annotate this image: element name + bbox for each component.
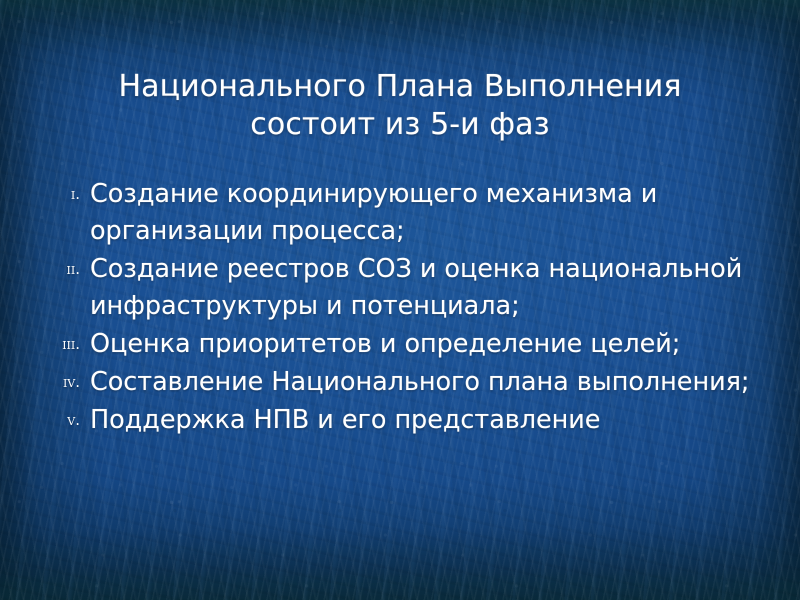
list-item-label: Создание координирующего механизма и орг… xyxy=(90,176,768,250)
phases-list: i. Создание координирующего механизма и … xyxy=(38,176,768,440)
presentation-slide: Национального Плана Выполнения состоит и… xyxy=(0,0,800,600)
list-item: iv. Составление Национального плана выпо… xyxy=(38,364,768,401)
list-item-marker: ii. xyxy=(38,251,90,288)
list-item-label: Составление Национального плана выполнен… xyxy=(90,364,768,401)
slide-title: Национального Плана Выполнения состоит и… xyxy=(60,68,740,144)
list-item: ii. Создание реестров СОЗ и оценка нацио… xyxy=(38,251,768,325)
list-item: i. Создание координирующего механизма и … xyxy=(38,176,768,250)
list-item-label: Поддержка НПВ и его представление xyxy=(90,402,768,439)
list-item-marker: iii. xyxy=(38,326,90,363)
list-item: iii. Оценка приоритетов и определение це… xyxy=(38,326,768,363)
list-item-marker: iv. xyxy=(38,364,90,401)
list-item-label: Создание реестров СОЗ и оценка националь… xyxy=(90,251,768,325)
list-item-marker: i. xyxy=(38,176,90,213)
list-item: v. Поддержка НПВ и его представление xyxy=(38,402,768,439)
list-item-label: Оценка приоритетов и определение целей; xyxy=(90,326,768,363)
slide-content: Национального Плана Выполнения состоит и… xyxy=(0,0,800,600)
list-item-marker: v. xyxy=(38,402,90,439)
